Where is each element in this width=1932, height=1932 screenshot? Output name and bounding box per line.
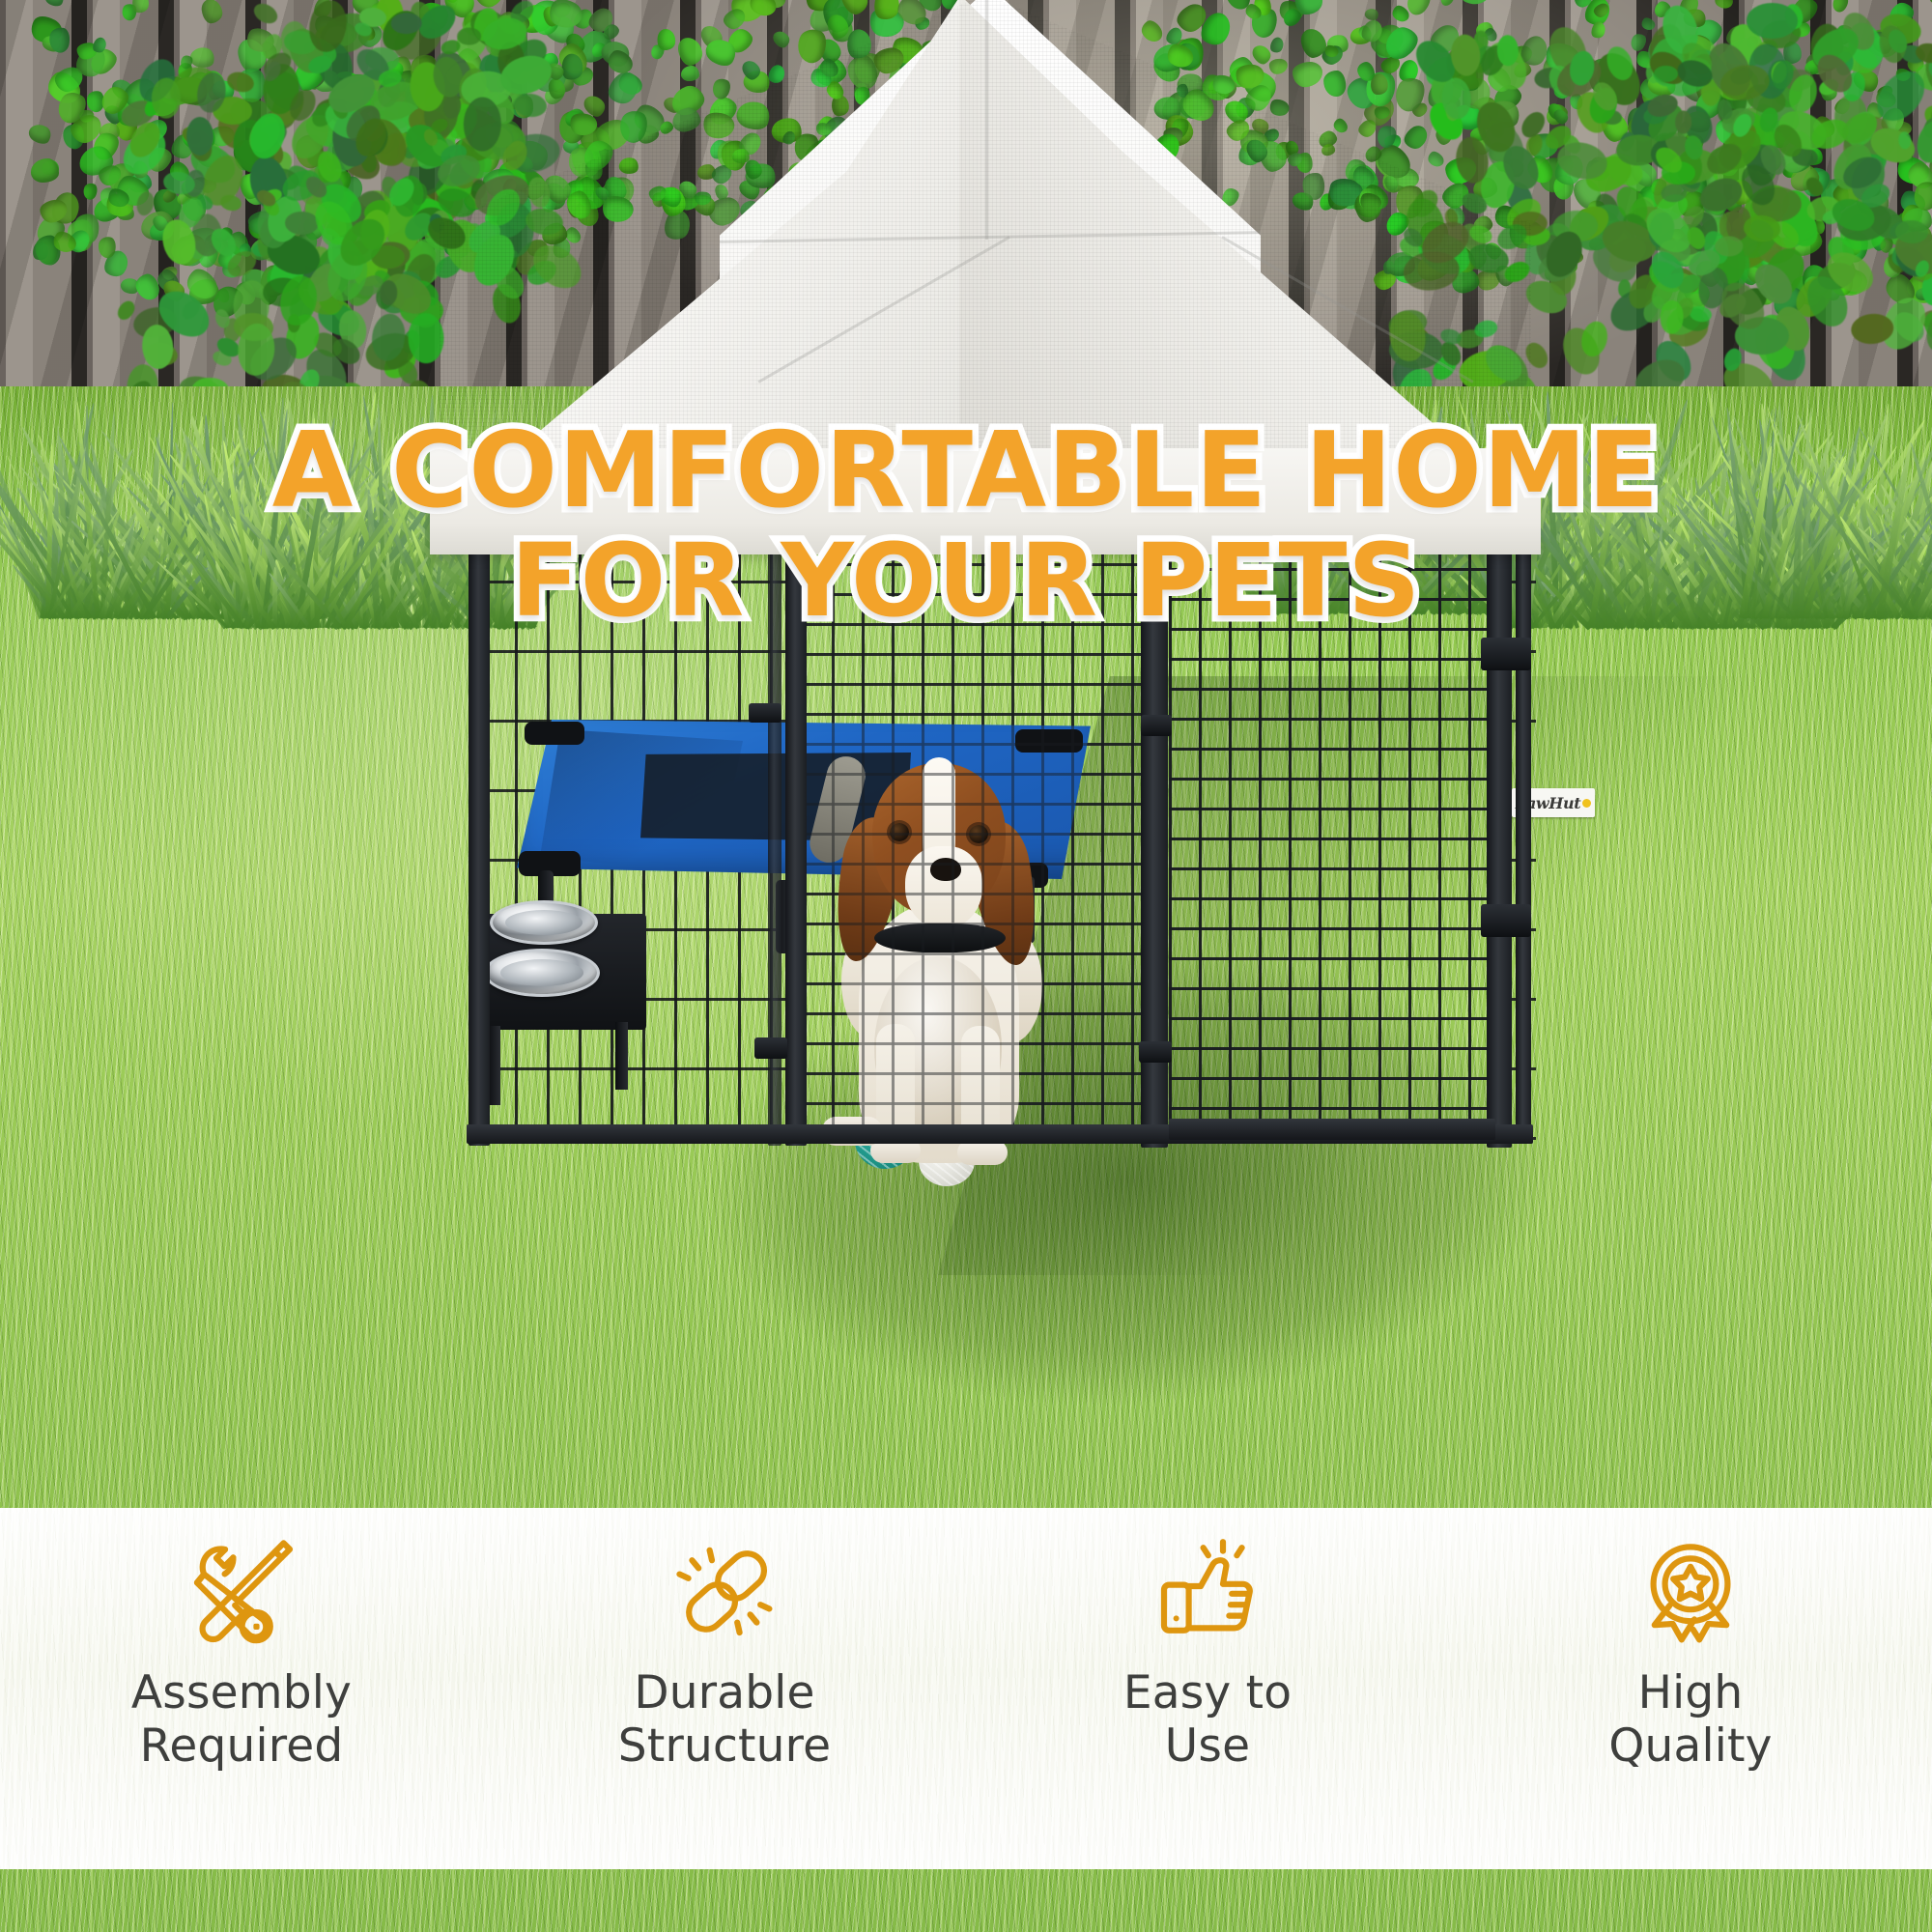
frame-bracket-left (749, 703, 781, 723)
feature-bar: Assembly Required Durable Structure (0, 1508, 1932, 1869)
door-latch-top[interactable] (1481, 638, 1531, 670)
pet-bed-corner (525, 722, 584, 745)
product-marketing-image: PawHut (0, 0, 1932, 1932)
frame-bracket-low-center (1139, 1041, 1172, 1063)
kennel-door-bottom-rail (1169, 1119, 1495, 1140)
feature-grid: Assembly Required Durable Structure (0, 1508, 1932, 1869)
feature-label: Easy to Use (1123, 1666, 1292, 1774)
mesh-panel-door-front (1169, 512, 1488, 1140)
wrench-screwdriver-icon (180, 1529, 303, 1653)
dog-kennel: PawHut (440, 0, 1531, 1179)
mesh-panel-front-left (802, 517, 1145, 1135)
double-dog-bowl-stand (469, 898, 662, 1092)
dog-bowl-basin (505, 910, 582, 935)
frame-bracket-low-left (754, 1037, 787, 1059)
feature-item-assembly-required: Assembly Required (0, 1508, 483, 1869)
feature-label: High Quality (1608, 1666, 1772, 1774)
canopy-ridge (985, 0, 988, 240)
dog-bowl (484, 949, 600, 997)
feature-label: Assembly Required (131, 1666, 352, 1774)
kennel-post-back-right (1516, 516, 1531, 1144)
thumbs-up-icon (1146, 1529, 1269, 1653)
kennel-post-mid-left (785, 510, 807, 1146)
feature-item-durable-structure: Durable Structure (483, 1508, 966, 1869)
chain-link-icon (663, 1529, 786, 1653)
bowl-stand-leg (615, 1022, 628, 1090)
award-badge-star-icon (1629, 1529, 1752, 1653)
door-latch-bottom[interactable] (1481, 904, 1531, 937)
canopy-skirt (430, 448, 1541, 554)
frame-bracket-center (1141, 715, 1172, 736)
kennel-post-right (1487, 510, 1512, 1148)
dog-bowl-basin (500, 959, 583, 986)
feature-item-high-quality: High Quality (1449, 1508, 1932, 1869)
canopy-roof (430, 0, 1541, 535)
grass-clump (1739, 415, 1932, 618)
dog-bowl (490, 900, 598, 945)
feature-item-easy-to-use: Easy to Use (966, 1508, 1449, 1869)
feature-label: Durable Structure (618, 1666, 831, 1774)
paw-print-icon (1582, 799, 1591, 808)
kennel-post-front-left (469, 516, 490, 1146)
